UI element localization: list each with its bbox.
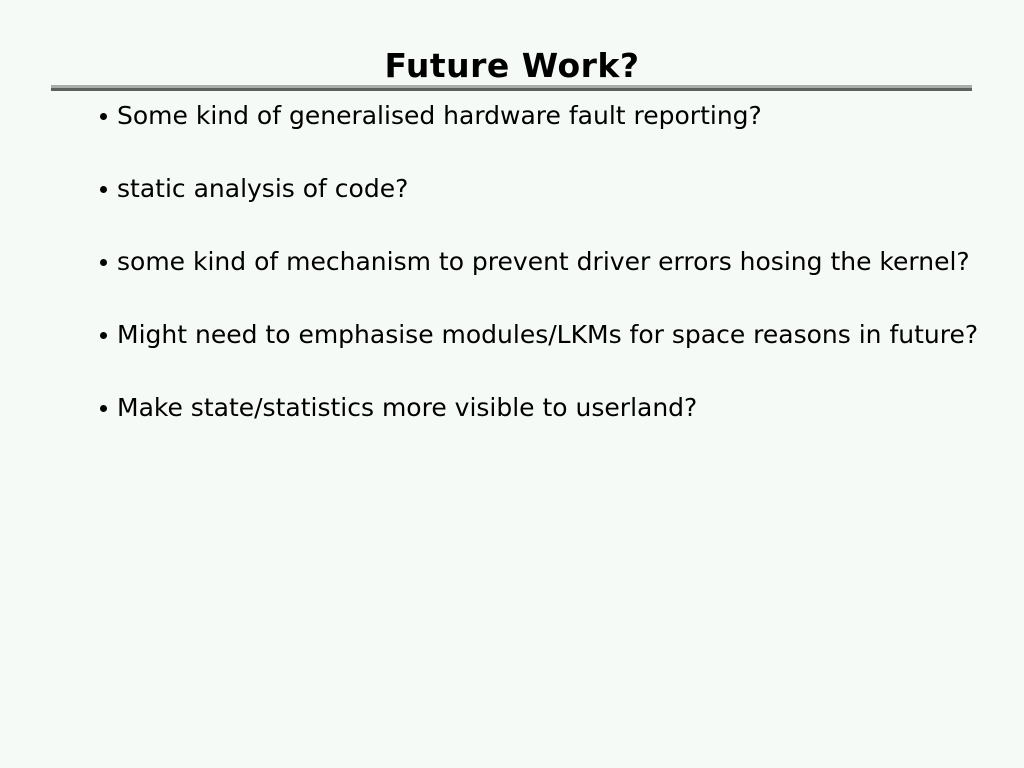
list-item: some kind of mechanism to prevent driver…: [96, 244, 996, 317]
page-title: Future Work?: [0, 46, 1024, 86]
bullet-dot-icon: [100, 405, 107, 412]
bullet-dot-icon: [100, 186, 107, 193]
title-divider: [51, 85, 972, 91]
list-item-label: Some kind of generalised hardware fault …: [117, 98, 762, 134]
bullet-list: Some kind of generalised hardware fault …: [96, 98, 996, 463]
list-item: static analysis of code?: [96, 171, 996, 244]
presentation-slide: Future Work? Some kind of generalised ha…: [0, 0, 1024, 768]
bullet-dot-icon: [100, 113, 107, 120]
list-item-label: Make state/statistics more visible to us…: [117, 390, 697, 426]
bullet-dot-icon: [100, 332, 107, 339]
list-item-label: some kind of mechanism to prevent driver…: [117, 244, 970, 280]
divider-shadow: [51, 88, 972, 91]
list-item: Some kind of generalised hardware fault …: [96, 98, 996, 171]
list-item: Make state/statistics more visible to us…: [96, 390, 996, 463]
list-item-label: static analysis of code?: [117, 171, 408, 207]
bullet-dot-icon: [100, 259, 107, 266]
list-item: Might need to emphasise modules/LKMs for…: [96, 317, 996, 390]
list-item-label: Might need to emphasise modules/LKMs for…: [117, 317, 978, 353]
